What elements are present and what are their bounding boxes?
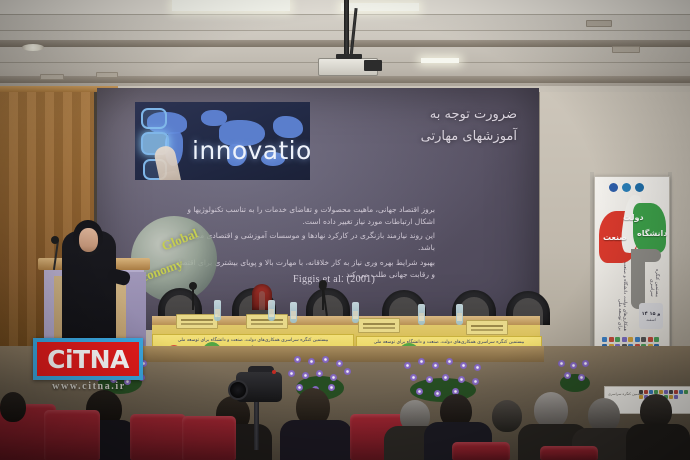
- sponsor-icon: [669, 390, 673, 394]
- audience-seat: [182, 416, 236, 460]
- touch-button-icon: [141, 108, 167, 129]
- sponsor-icon: [641, 337, 646, 342]
- water-bottle: [418, 304, 425, 325]
- banner-date-badge: ۱۴ و ۱۵ اسفند: [639, 303, 663, 329]
- recessed-light: [22, 44, 44, 51]
- banner-congress-title: بیستمین کنگره سراسری همکاری‌های دولت، صن…: [357, 340, 541, 345]
- camera-tripod: [254, 400, 259, 450]
- table-microphone: [192, 288, 194, 310]
- audience-seat: [452, 442, 510, 460]
- audience-head: [534, 392, 568, 428]
- sponsor-icon: [615, 337, 620, 342]
- water-bottle: [456, 304, 463, 325]
- banner-sponsor-logos: [609, 183, 644, 192]
- audience-shoulders: [280, 420, 352, 460]
- sponsor-icon: [644, 390, 648, 394]
- water-bottle: [268, 300, 275, 321]
- sponsor-logo-icon: [635, 183, 644, 192]
- ceiling-vent: [586, 20, 612, 27]
- nameplate: [246, 314, 288, 329]
- audience-shoulders: [626, 424, 690, 460]
- podium-microphone-head: [51, 236, 59, 244]
- ceiling-vent: [612, 46, 640, 53]
- water-bottle: [214, 300, 221, 321]
- sponsor-icon: [622, 337, 627, 342]
- sponsor-icon: [674, 390, 678, 394]
- ceiling-vent: [96, 72, 118, 78]
- citna-logo-text: CiTNA: [47, 345, 129, 374]
- banner-vertical-text: همکاری‌های دولت، دانشگاه و صنعت برای توس…: [617, 259, 627, 331]
- sponsor-icon: [639, 395, 643, 399]
- audience-head: [640, 394, 672, 428]
- nameplate: [358, 318, 400, 333]
- sponsor-icon: [628, 337, 633, 342]
- camera-record-light: [272, 370, 276, 374]
- nameplate: [466, 320, 508, 335]
- flag-shape-green: [633, 203, 666, 253]
- sponsor-icon: [648, 337, 653, 342]
- globe-word-global: Global: [159, 226, 200, 255]
- slide-bullet: بروز اقتصاد جهانی، ماهیت محصولات و تقاضا…: [175, 204, 435, 228]
- sponsor-icon: [674, 395, 678, 399]
- sponsor-icon: [669, 395, 673, 399]
- projector-mount: [336, 54, 362, 59]
- sponsor-icon: [654, 337, 659, 342]
- slide-headline-line2: آموزشهای مهارتی: [317, 126, 517, 148]
- flower-arrangement-far-right: [556, 360, 596, 392]
- banner-congress-title: بیستمین کنگره سراسری همکاری‌های دولت، صن…: [153, 338, 353, 343]
- flower-arrangement-right: [400, 358, 490, 402]
- sponsor-icon: [609, 337, 614, 342]
- slide-headline-line1: ضرورت توجه به: [317, 104, 517, 126]
- banner-word-industry: صنعت: [603, 233, 627, 242]
- citna-logo-inner: CiTNA: [37, 342, 139, 376]
- projector-pole: [344, 0, 349, 58]
- banner-word-government: دولت: [623, 213, 644, 222]
- speaker-face: [79, 228, 98, 252]
- audience-head: [0, 392, 26, 422]
- sponsor-logo-icon: [609, 183, 618, 192]
- conference-photo: innovation ضرورت توجه به آموزشهای مهارتی…: [0, 0, 690, 460]
- ceiling-panel-light: [341, 3, 419, 11]
- banner-word-university: دانشگاه: [637, 229, 667, 238]
- audience-head: [588, 398, 620, 432]
- citna-website-url: www.citna.ir: [33, 381, 145, 392]
- slide-citation: Figgis et al. (2001): [293, 274, 375, 285]
- audience-seat: [540, 446, 598, 460]
- sponsor-icon: [679, 390, 683, 394]
- water-bottle: [290, 302, 297, 323]
- innovation-wordmark: innovation: [192, 136, 310, 165]
- banner-date-month: اسفند: [646, 317, 656, 322]
- banner-subtitle: بیستمین کنگره سراسری: [649, 255, 659, 297]
- sponsor-icon: [602, 337, 607, 342]
- ceiling-panel-light: [172, 0, 290, 11]
- innovation-graphic: innovation: [135, 102, 310, 180]
- audience-seat: [44, 410, 100, 460]
- sponsor-icon: [684, 390, 688, 394]
- citna-watermark-logo: CiTNA: [33, 338, 143, 380]
- ceiling-vent: [40, 74, 64, 80]
- nameplate: [176, 314, 218, 329]
- audience-seat: [130, 414, 186, 460]
- sponsor-icon: [635, 337, 640, 342]
- audience-head: [492, 400, 522, 432]
- sponsor-logo-icon: [622, 183, 631, 192]
- sponsor-icon: [639, 390, 643, 394]
- projector-lens: [364, 60, 382, 71]
- sponsor-icon: [664, 390, 668, 394]
- slide-headline: ضرورت توجه به آموزشهای مهارتی: [317, 104, 517, 148]
- ceiling-panel-light: [421, 58, 459, 63]
- water-bottle: [352, 302, 359, 323]
- camera-lens: [228, 380, 248, 400]
- sponsor-icon: [659, 390, 663, 394]
